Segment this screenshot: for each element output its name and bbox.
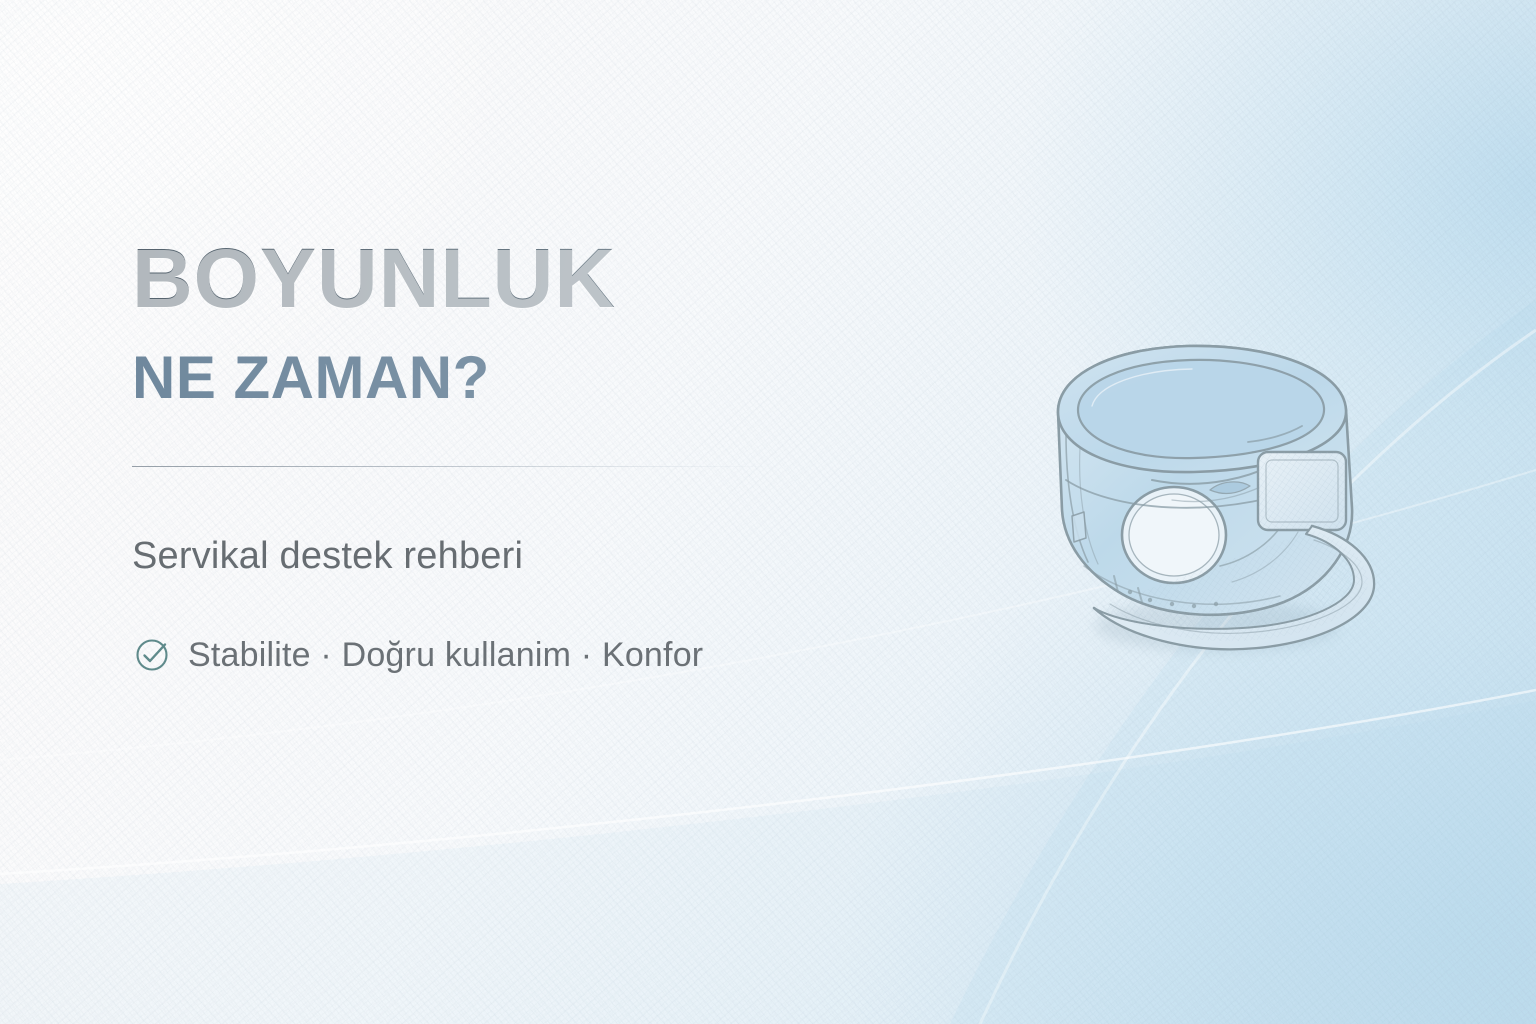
circle-check-icon — [132, 634, 174, 676]
cervical-collar-illustration — [1022, 330, 1412, 680]
text-content-block: BOYUNLUK NE ZAMAN? Servikal destek rehbe… — [132, 236, 892, 676]
tagline: Servikal destek rehberi — [132, 535, 892, 578]
divider — [132, 466, 772, 467]
poster-canvas: BOYUNLUK NE ZAMAN? Servikal destek rehbe… — [0, 0, 1536, 1024]
page-title: BOYUNLUK — [132, 236, 892, 320]
page-subtitle: NE ZAMAN? — [132, 348, 892, 408]
features-label: Stabilite · Doğru kullanim · Konfor — [188, 636, 703, 675]
features-row: Stabilite · Doğru kullanim · Konfor — [132, 634, 892, 676]
